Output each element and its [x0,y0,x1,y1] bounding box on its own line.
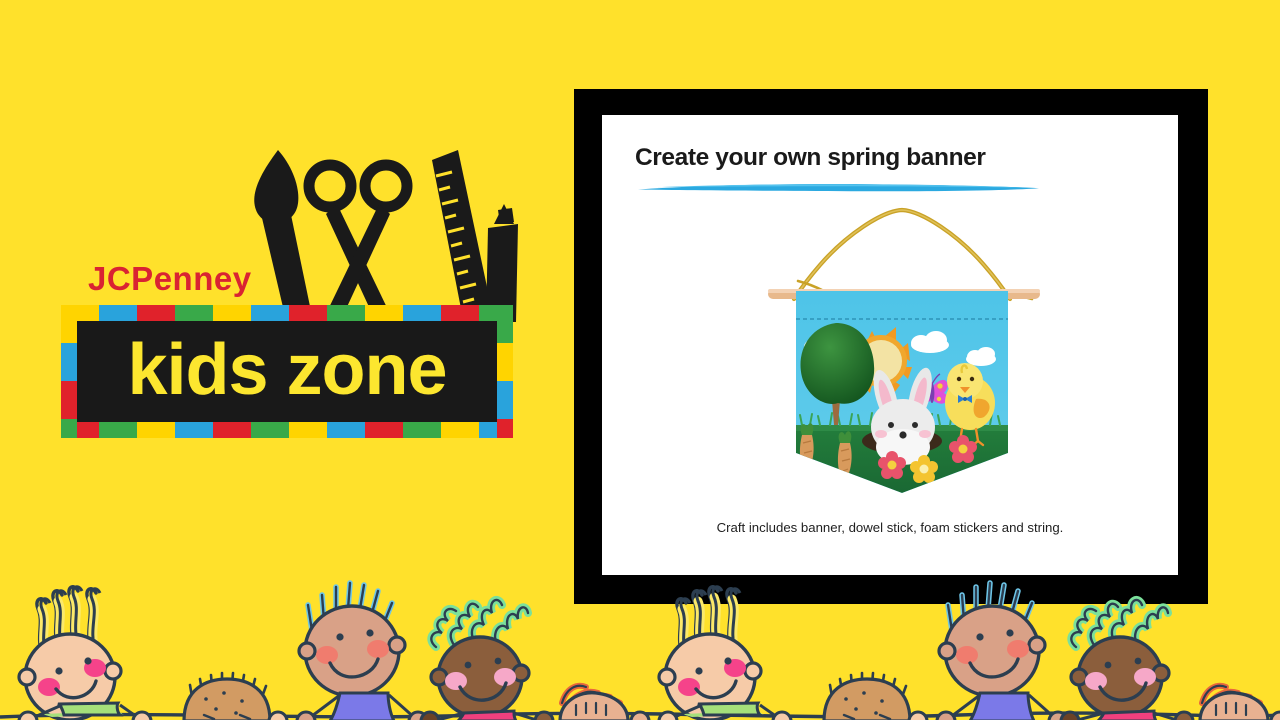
jcpenney-wordmark: JCPenney [88,260,252,298]
lego-block [497,305,513,343]
lego-block [61,419,77,438]
lego-block [61,381,77,419]
lego-block [99,305,137,321]
lego-block [403,422,441,438]
lego-border-bottom [61,422,513,438]
lego-block [99,422,137,438]
lego-block [365,305,403,321]
lego-block [327,422,365,438]
lego-block [441,422,479,438]
lego-block [497,343,513,381]
paintbrush-icon [254,150,312,320]
lego-block [251,305,289,321]
scissors-icon [309,165,407,322]
spring-banner-illustration [762,203,1062,508]
lego-block [61,343,77,381]
kids-zone-wordmark: kids zone [127,334,446,406]
kids-group-left [19,583,649,720]
lego-block [251,422,289,438]
lego-block [289,305,327,321]
hanging-string [794,210,1032,299]
lego-block [497,381,513,419]
video-slide-frame[interactable]: Create your own spring banner [574,89,1208,604]
title-underline-brushstroke [636,182,1041,192]
lego-border-left [61,305,77,438]
jcpenney-kids-zone-logo: JCPenney kids zone [58,148,518,448]
lego-block [137,422,175,438]
lego-block [441,305,479,321]
craft-tools-icon-group [236,148,518,323]
kids-zone-panel: kids zone [77,321,497,422]
lego-block [327,305,365,321]
ruler-icon [432,150,494,323]
lego-block [365,422,403,438]
ground-line [0,713,1280,717]
banner-body [796,291,1008,493]
lego-block [175,422,213,438]
slide-caption: Craft includes banner, dowel stick, foam… [602,520,1178,535]
slide-page: Create your own spring banner [602,115,1178,575]
lego-block [61,305,77,343]
lego-block [213,422,251,438]
lego-block [497,419,513,438]
slide-title: Create your own spring banner [635,144,986,172]
lego-block [137,305,175,321]
lego-border-right [497,305,513,438]
slide-canvas: JCPenney kids zone Create your own sprin… [0,0,1280,720]
lego-block [213,305,251,321]
kids-zone-badge: kids zone [61,305,513,438]
lego-block [175,305,213,321]
lego-block [289,422,327,438]
lego-block [403,305,441,321]
lego-border-top [61,305,513,321]
